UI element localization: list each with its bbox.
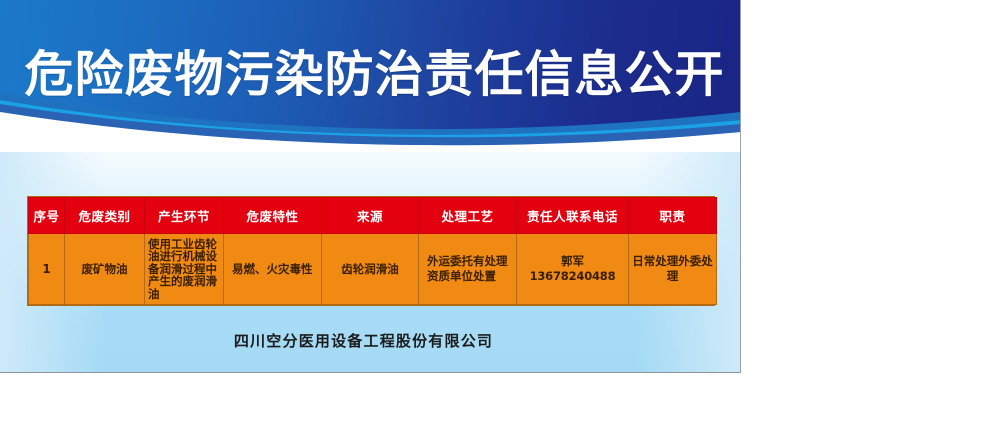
column-header-index: 序号 [29, 198, 65, 234]
cell-treatment-process: 外运委托有处理资质单位处置 [419, 234, 517, 305]
contact-phone: 13678240488 [519, 269, 626, 284]
cell-generation-stage: 使用工业齿轮油进行机械设备润滑过程中产生的废润滑油 [145, 234, 224, 305]
hazardous-waste-table: 序号 危废类别 产生环节 危废特性 来源 处理工艺 责任人联系电话 职责 1 废… [27, 196, 715, 306]
table-header-row: 序号 危废类别 产生环节 危废特性 来源 处理工艺 责任人联系电话 职责 [29, 198, 717, 234]
contact-name: 郭军 [519, 254, 626, 269]
column-header-contact-phone: 责任人联系电话 [517, 198, 629, 234]
cell-contact: 郭军 13678240488 [517, 234, 629, 305]
cell-source: 齿轮润滑油 [322, 234, 419, 305]
company-name: 四川空分医用设备工程股份有限公司 [0, 330, 741, 351]
table-row: 1 废矿物油 使用工业齿轮油进行机械设备润滑过程中产生的废润滑油 易燃、火灾毒性… [29, 234, 717, 305]
column-header-treatment-process: 处理工艺 [419, 198, 517, 234]
information-poster: 危险废物污染防治责任信息公开 序号 危废类别 产生环节 危废特性 来源 [0, 0, 741, 373]
column-header-category: 危废类别 [65, 198, 145, 234]
page-title: 危险废物污染防治责任信息公开 [0, 47, 741, 103]
cell-category: 废矿物油 [65, 234, 145, 305]
cell-hazard-property: 易燃、火灾毒性 [224, 234, 322, 305]
cell-index: 1 [29, 234, 65, 305]
column-header-generation-stage: 产生环节 [145, 198, 224, 234]
column-header-duty: 职责 [629, 198, 717, 234]
column-header-source: 来源 [322, 198, 419, 234]
column-header-hazard-property: 危废特性 [224, 198, 322, 234]
cell-duty: 日常处理外委处理 [629, 234, 717, 305]
